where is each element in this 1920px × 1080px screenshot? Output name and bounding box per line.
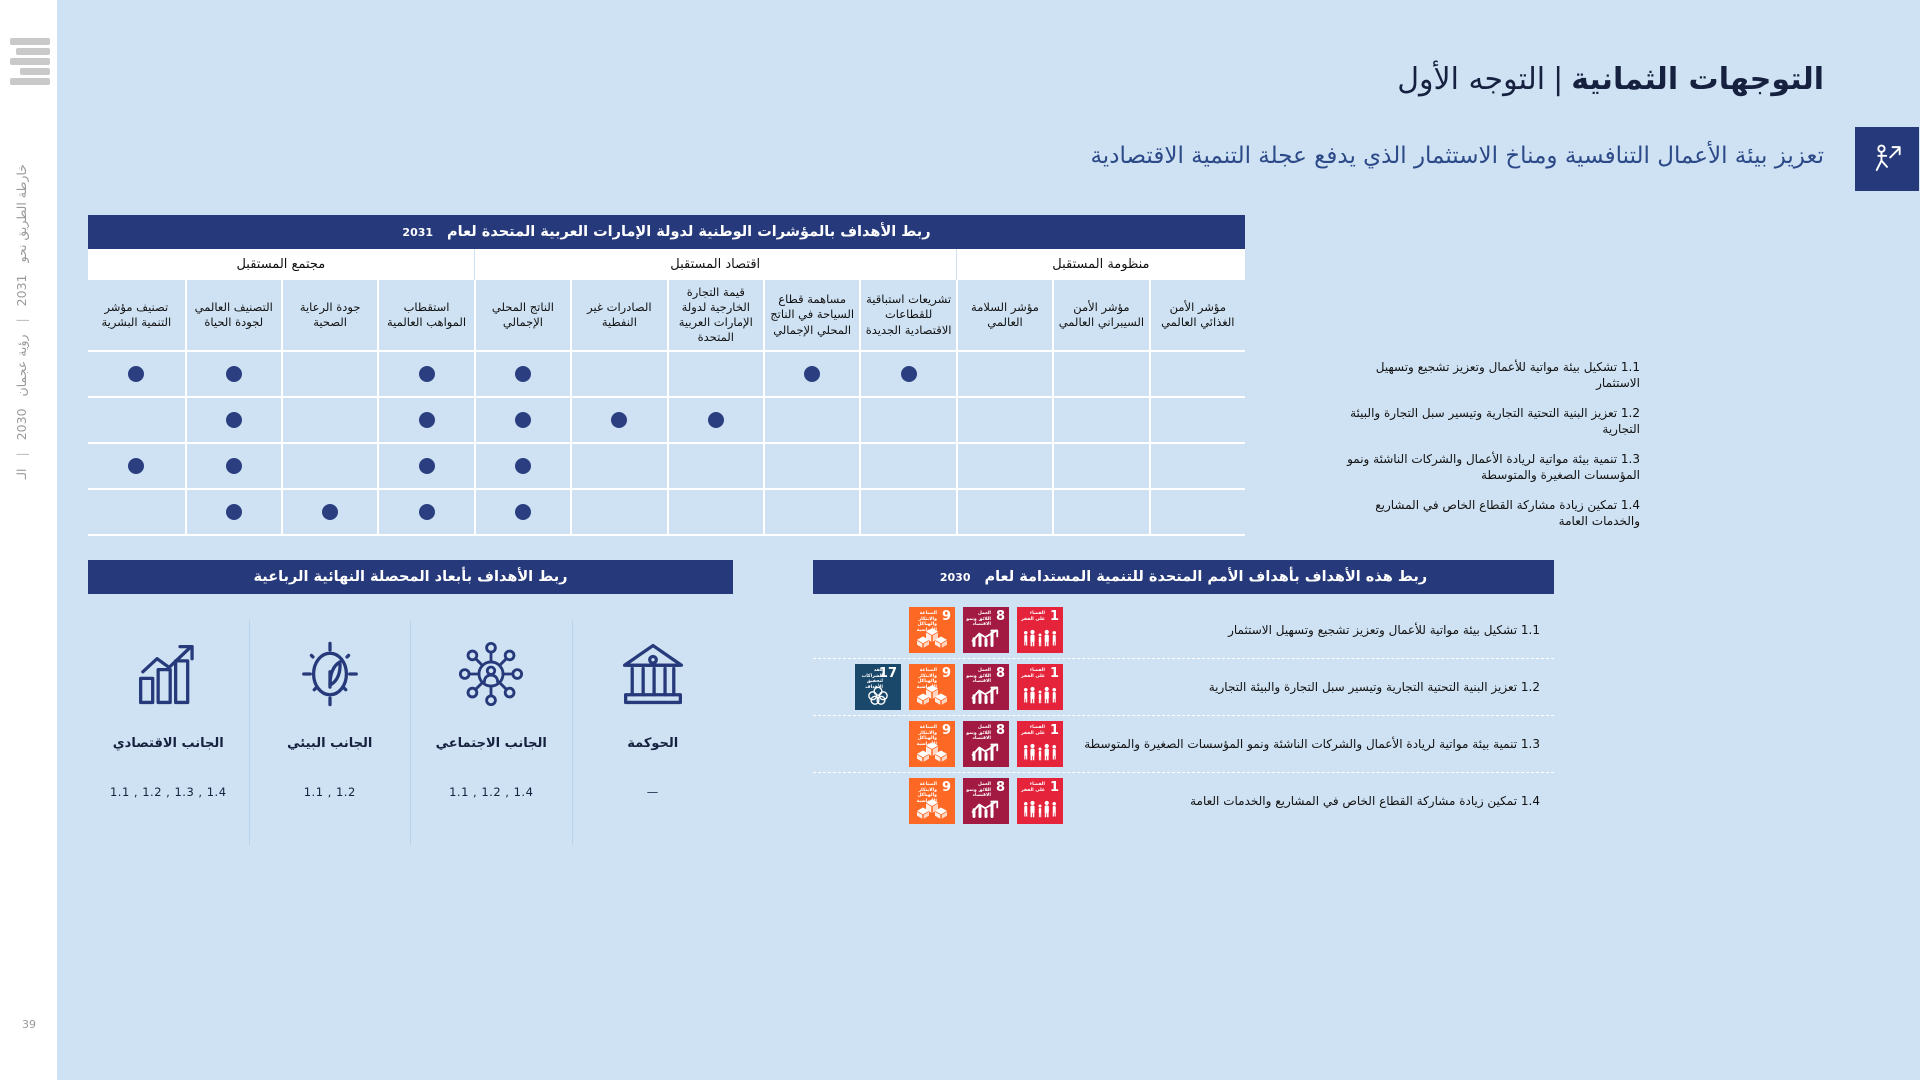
direction-badge — [1855, 127, 1919, 191]
sdg-badge-8[interactable]: 8العمل اللائق ونمو الاقتصاد — [963, 778, 1009, 824]
quadruple-dimension-columns: الجانب الاقتصادي1.1 , 1.2 , 1.3 , 1.4الج… — [88, 620, 733, 845]
quadruple-dimension-name: الجانب الاقتصادي — [113, 736, 224, 751]
indicator-cell-empty — [667, 490, 763, 536]
sdg-badge-label: القضاء على الفقر — [1020, 725, 1045, 736]
indicator-cell-empty — [667, 444, 763, 490]
sdg-badge-number: 1 — [1050, 724, 1059, 737]
indicator-group-row: منظومة المستقبلاقتصاد المستقبلمجتمع المس… — [88, 249, 1245, 280]
indicator-cell-empty — [1052, 352, 1148, 398]
sdg-badge-label: القضاء على الفقر — [1020, 611, 1045, 622]
sdg-badge-9[interactable]: 9الصناعة والابتكار والهياكل الأساسية — [909, 607, 955, 653]
indicator-cell-empty — [1149, 490, 1245, 536]
indicator-cell-marked — [377, 490, 473, 536]
cubes-icon — [909, 797, 955, 821]
indicator-dot — [419, 504, 435, 520]
indicator-dot — [322, 504, 338, 520]
quadruple-dimension-codes: — — [647, 785, 659, 799]
indicator-dot — [226, 366, 242, 382]
stacked-books-logo-icon — [8, 38, 50, 90]
indicator-cell-empty — [88, 490, 184, 536]
indicator-dot — [804, 366, 820, 382]
sdg-badge-label: القضاء على الفقر — [1020, 782, 1045, 793]
indicator-table: ربط الأهداف بالمؤشرات الوطنية لدولة الإم… — [88, 215, 1245, 536]
sdg-badge-8[interactable]: 8العمل اللائق ونمو الاقتصاد — [963, 664, 1009, 710]
sdg-panel: ربط هذه الأهداف بأهداف الأمم المتحدة للت… — [813, 560, 1554, 829]
sdg-badge-9[interactable]: 9الصناعة والابتكار والهياكل الأساسية — [909, 721, 955, 767]
sdg-row: 9الصناعة والابتكار والهياكل الأساسية8الع… — [813, 602, 1554, 659]
indicator-table-title-text: ربط الأهداف بالمؤشرات الوطنية لدولة الإم… — [447, 224, 931, 240]
sdg-badge-1[interactable]: 1القضاء على الفقر — [1017, 721, 1063, 767]
sdg-panel-title-text: ربط هذه الأهداف بأهداف الأمم المتحدة للت… — [984, 569, 1427, 585]
indicator-group-2: مجتمع المستقبل — [88, 249, 474, 280]
sdg-badge-number: 1 — [1050, 781, 1059, 794]
indicator-dot — [419, 458, 435, 474]
indicator-cell-empty — [1052, 490, 1148, 536]
indicator-group-label: منظومة المستقبل — [1052, 257, 1149, 272]
indicator-cell-marked — [474, 398, 570, 444]
indicator-cell-empty — [859, 444, 955, 490]
indicator-column-header-0: مؤشر الأمن الغذائي العالمي — [1149, 280, 1245, 352]
indicator-cell-empty — [859, 398, 955, 444]
family-group-icon — [1017, 797, 1063, 821]
indicator-cell-marked — [377, 398, 473, 444]
indicator-cell-empty — [763, 398, 859, 444]
sdg-badge-1[interactable]: 1القضاء على الفقر — [1017, 778, 1063, 824]
indicator-cell-empty — [570, 444, 666, 490]
indicator-cell-marked — [474, 444, 570, 490]
quadruple-dimension-2: الجانب الاجتماعي1.1 , 1.2 , 1.4 — [411, 620, 573, 845]
indicator-column-header-8: استقطاب المواهب العالمية — [377, 280, 473, 352]
indicator-cell-empty — [956, 490, 1052, 536]
indicator-cell-empty — [281, 352, 377, 398]
indicator-cell-empty — [956, 444, 1052, 490]
sdg-badge-number: 1 — [1050, 610, 1059, 623]
indicator-cell-empty — [570, 352, 666, 398]
indicator-cell-marked — [185, 444, 281, 490]
indicator-row-label: 1.2 تعزيز البنية التحتية التجارية وتيسير… — [1337, 398, 1642, 444]
indicator-cell-empty — [1149, 352, 1245, 398]
indicator-cell-empty — [88, 398, 184, 444]
indicator-cell-marked — [88, 444, 184, 490]
sdg-badge-number: 9 — [942, 667, 951, 680]
quadruple-panel-title-text: ربط الأهداف بأبعاد المحصلة النهائية الرب… — [254, 569, 568, 585]
indicator-dot — [419, 412, 435, 428]
indicator-cell-empty — [281, 444, 377, 490]
circles-ring-icon — [855, 683, 901, 707]
indicator-cell-empty — [1149, 398, 1245, 444]
indicator-group-label: مجتمع المستقبل — [236, 257, 325, 272]
indicator-group-0: منظومة المستقبل — [956, 249, 1245, 280]
indicator-cell-empty — [667, 352, 763, 398]
quadruple-dimension-codes: 1.1 , 1.2 , 1.3 , 1.4 — [110, 785, 227, 799]
slide-canvas: خارطة الطريق نحو 2031 | رؤية عجمان 2030 … — [0, 0, 1920, 1080]
sdg-badge-group: 9الصناعة والابتكار والهياكل الأساسية8الع… — [813, 721, 1073, 767]
sdg-badge-1[interactable]: 1القضاء على الفقر — [1017, 664, 1063, 710]
indicator-cell-marked — [859, 352, 955, 398]
indicator-column-header-3: تشريعات استباقية للقطاعات الاقتصادية الج… — [859, 280, 955, 352]
bar-chart-growth-icon — [133, 620, 203, 728]
indicator-dot — [901, 366, 917, 382]
sdg-panel-title-year: 2030 — [940, 571, 971, 584]
side-caption-part-2: | — [14, 318, 29, 322]
social-network-person-icon — [456, 620, 526, 728]
sdg-row-list: 9الصناعة والابتكار والهياكل الأساسية8الع… — [813, 602, 1554, 829]
indicator-data-rows — [88, 352, 1245, 536]
indicator-column-header-11: تصنيف مؤشر التنمية البشرية — [88, 280, 184, 352]
quadruple-dimension-3: الحوكمة— — [573, 620, 734, 845]
sdg-badge-9[interactable]: 9الصناعة والابتكار والهياكل الأساسية — [909, 778, 955, 824]
side-caption-part-3: رؤية عجمان — [14, 335, 29, 397]
cubes-icon — [909, 626, 955, 650]
sdg-row: 9الصناعة والابتكار والهياكل الأساسية8الع… — [813, 716, 1554, 773]
family-group-icon — [1017, 626, 1063, 650]
growth-chart-icon — [963, 683, 1009, 707]
person-growth-arrow-icon — [1868, 140, 1906, 178]
indicator-dot — [708, 412, 724, 428]
indicator-table-title-year: 2031 — [402, 226, 433, 239]
indicator-cell-empty — [1052, 444, 1148, 490]
side-caption: خارطة الطريق نحو 2031 | رؤية عجمان 2030 … — [14, 160, 29, 560]
indicator-column-header-1: مؤشر الأمن السيبراني العالمي — [1052, 280, 1148, 352]
quadruple-bottom-line-panel: ربط الأهداف بأبعاد المحصلة النهائية الرب… — [88, 560, 733, 845]
sdg-badge-number: 8 — [996, 781, 1005, 794]
indicator-cell-marked — [377, 352, 473, 398]
quadruple-dimension-0: الجانب الاقتصادي1.1 , 1.2 , 1.3 , 1.4 — [88, 620, 250, 845]
sdg-badge-number: 9 — [942, 781, 951, 794]
sdg-row: 17عقد الشراكات لتحقيق الأهداف9الصناعة وا… — [813, 659, 1554, 716]
indicator-cell-marked — [763, 352, 859, 398]
indicator-cell-marked — [185, 490, 281, 536]
sdg-badge-group: 9الصناعة والابتكار والهياكل الأساسية8الع… — [813, 607, 1073, 653]
indicator-cell-empty — [859, 490, 955, 536]
sdg-badge-group: 9الصناعة والابتكار والهياكل الأساسية8الع… — [813, 778, 1073, 824]
sdg-row-text: 1.3 تنمية بيئة مواتية لريادة الأعمال وال… — [1073, 736, 1554, 753]
leaf-sun-icon — [295, 620, 365, 728]
sdg-badge-number: 8 — [996, 724, 1005, 737]
indicator-column-header-2: مؤشر السلامة العالمي — [956, 280, 1052, 352]
sdg-badge-number: 9 — [942, 724, 951, 737]
indicator-dot — [515, 366, 531, 382]
indicator-dot — [515, 458, 531, 474]
quadruple-dimension-name: الجانب الاجتماعي — [436, 736, 547, 751]
sdg-badge-8[interactable]: 8العمل اللائق ونمو الاقتصاد — [963, 607, 1009, 653]
indicator-row-labels: 1.1 تشكيل بيئة مواتية للأعمال وتعزيز تشج… — [1337, 352, 1642, 536]
indicator-cell-empty — [1149, 444, 1245, 490]
indicator-cell-empty — [956, 398, 1052, 444]
indicator-column-header-10: التصنيف العالمي لجودة الحياة — [185, 280, 281, 352]
side-caption-part-4: 2030 — [14, 408, 29, 440]
government-building-icon — [618, 620, 688, 728]
quadruple-dimension-name: الجانب البيئي — [287, 736, 372, 751]
indicator-dot — [419, 366, 435, 382]
sdg-badge-group: 17عقد الشراكات لتحقيق الأهداف9الصناعة وا… — [813, 664, 1073, 710]
sdg-badge-1[interactable]: 1القضاء على الفقر — [1017, 607, 1063, 653]
side-caption-part-6: الـ — [14, 468, 29, 479]
sdg-badge-8[interactable]: 8العمل اللائق ونمو الاقتصاد — [963, 721, 1009, 767]
indicator-cell-marked — [667, 398, 763, 444]
indicator-cell-marked — [377, 444, 473, 490]
indicator-cell-marked — [474, 352, 570, 398]
sdg-row-text: 1.4 تمكين زيادة مشاركة القطاع الخاص في ا… — [1073, 793, 1554, 810]
indicator-dot — [226, 504, 242, 520]
quadruple-panel-title: ربط الأهداف بأبعاد المحصلة النهائية الرب… — [88, 560, 733, 594]
cubes-icon — [909, 740, 955, 764]
growth-chart-icon — [963, 797, 1009, 821]
indicator-cell-marked — [185, 352, 281, 398]
family-group-icon — [1017, 683, 1063, 707]
indicator-dot — [128, 458, 144, 474]
sdg-row-text: 1.2 تعزيز البنية التحتية التجارية وتيسير… — [1073, 679, 1554, 696]
table-row — [88, 352, 1245, 398]
sdg-badge-number: 1 — [1050, 667, 1059, 680]
indicator-dot — [128, 366, 144, 382]
cubes-icon — [909, 683, 955, 707]
side-caption-part-0: خارطة الطريق نحو — [14, 164, 29, 263]
page-title-light: التوجه الأول — [1397, 62, 1545, 97]
page-title-bold: التوجهات الثمانية — [1571, 62, 1824, 97]
side-caption-part-1: 2031 — [14, 275, 29, 307]
sdg-row-text: 1.1 تشكيل بيئة مواتية للأعمال وتعزيز تشج… — [1073, 622, 1554, 639]
page-number: 39 — [22, 1018, 36, 1031]
indicator-dot — [515, 412, 531, 428]
indicator-row-label: 1.4 تمكين زيادة مشاركة القطاع الخاص في ا… — [1337, 490, 1642, 536]
indicator-cell-empty — [281, 398, 377, 444]
indicator-cell-marked — [185, 398, 281, 444]
growth-chart-icon — [963, 626, 1009, 650]
growth-chart-icon — [963, 740, 1009, 764]
page-title: التوجهات الثمانية|التوجه الأول — [1397, 62, 1824, 97]
quadruple-dimension-codes: 1.1 , 1.2 — [304, 785, 356, 799]
indicator-row-label: 1.3 تنمية بيئة مواتية لريادة الأعمال وال… — [1337, 444, 1642, 490]
quadruple-dimension-1: الجانب البيئي1.1 , 1.2 — [250, 620, 412, 845]
table-row — [88, 490, 1245, 536]
sdg-badge-number: 8 — [996, 610, 1005, 623]
indicator-group-1: اقتصاد المستقبل — [474, 249, 956, 280]
sdg-badge-number: 9 — [942, 610, 951, 623]
quadruple-dimension-codes: 1.1 , 1.2 , 1.4 — [449, 785, 533, 799]
indicator-column-header-5: قيمة التجارة الخارجية لدولة الإمارات الع… — [667, 280, 763, 352]
page-subtitle: تعزيز بيئة الأعمال التنافسية ومناخ الاست… — [1090, 143, 1824, 169]
sdg-row: 9الصناعة والابتكار والهياكل الأساسية8الع… — [813, 773, 1554, 829]
family-group-icon — [1017, 740, 1063, 764]
indicator-column-header-row: مؤشر الأمن الغذائي العالميمؤشر الأمن الس… — [88, 280, 1245, 352]
indicator-table-title: ربط الأهداف بالمؤشرات الوطنية لدولة الإم… — [88, 215, 1245, 249]
indicator-dot — [226, 412, 242, 428]
indicator-cell-empty — [763, 490, 859, 536]
table-row — [88, 398, 1245, 444]
indicator-cell-empty — [570, 490, 666, 536]
sdg-panel-title: ربط هذه الأهداف بأهداف الأمم المتحدة للت… — [813, 560, 1554, 594]
indicator-column-header-7: الناتج المحلي الإجمالي — [474, 280, 570, 352]
indicator-column-header-6: الصادرات غير النفطية — [570, 280, 666, 352]
indicator-row-label: 1.1 تشكيل بيئة مواتية للأعمال وتعزيز تشج… — [1337, 352, 1642, 398]
indicator-cell-marked — [281, 490, 377, 536]
indicator-cell-empty — [956, 352, 1052, 398]
indicator-cell-empty — [1052, 398, 1148, 444]
sdg-badge-9[interactable]: 9الصناعة والابتكار والهياكل الأساسية — [909, 664, 955, 710]
indicator-dot — [226, 458, 242, 474]
indicator-group-label: اقتصاد المستقبل — [670, 257, 760, 272]
indicator-cell-marked — [570, 398, 666, 444]
indicator-dot — [515, 504, 531, 520]
page-title-separator: | — [1553, 62, 1563, 97]
indicator-dot — [611, 412, 627, 428]
sdg-badge-label: القضاء على الفقر — [1020, 668, 1045, 679]
indicator-cell-empty — [763, 444, 859, 490]
table-row — [88, 444, 1245, 490]
indicator-column-header-9: جودة الرعاية الصحية — [281, 280, 377, 352]
sdg-badge-number: 8 — [996, 667, 1005, 680]
quadruple-dimension-name: الحوكمة — [627, 736, 678, 751]
indicator-cell-marked — [88, 352, 184, 398]
sdg-badge-17[interactable]: 17عقد الشراكات لتحقيق الأهداف — [855, 664, 901, 710]
side-caption-part-5: | — [14, 452, 29, 456]
indicator-column-header-4: مساهمة قطاع السياحة في الناتج المحلي الإ… — [763, 280, 859, 352]
indicator-cell-marked — [474, 490, 570, 536]
